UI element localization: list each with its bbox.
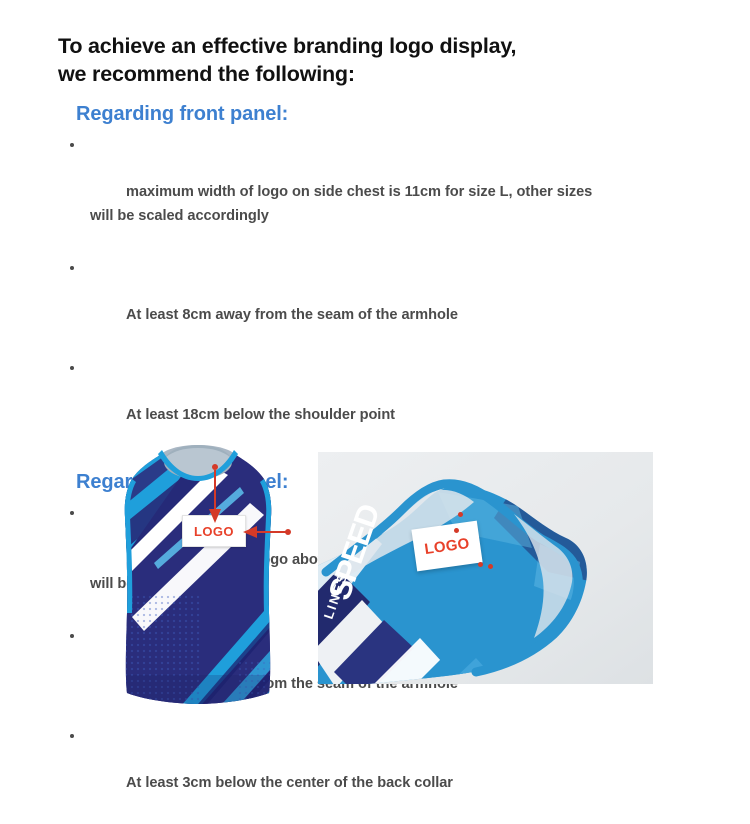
- list-item: At least 3cm below the center of the bac…: [66, 725, 718, 820]
- list-item-text: At least 8cm away from the seam of the a…: [126, 307, 458, 323]
- figures-row: LOGO: [0, 440, 750, 710]
- singlet-front-illustration: [118, 445, 278, 707]
- logo-card-label: LOGO: [194, 524, 234, 539]
- list-item: maximum width of logo on side chest is 1…: [66, 134, 718, 252]
- bullet-dot-icon: [70, 366, 74, 370]
- callout-arrow-top: [202, 463, 228, 525]
- callout-arrow-right: [240, 521, 292, 543]
- marker-dot: [488, 564, 493, 569]
- list-item-text: maximum width of logo on side chest is 1…: [86, 184, 592, 224]
- marker-dot: [458, 512, 463, 517]
- bullet-dot-icon: [70, 734, 74, 738]
- bullet-dot-icon: [70, 143, 74, 147]
- page-title-line1: To achieve an effective branding logo di…: [58, 34, 516, 58]
- marker-dot: [478, 562, 483, 567]
- bullet-dot-icon: [70, 266, 74, 270]
- front-panel-figure: LOGO: [118, 445, 278, 707]
- section-front-panel: Regarding front panel: maximum width of …: [58, 103, 718, 451]
- marker-dot: [454, 528, 459, 533]
- list-item-text: At least 18cm below the shoulder point: [126, 407, 395, 423]
- page-root: To achieve an effective branding logo di…: [0, 0, 750, 750]
- list-item-text: At least 3cm below the center of the bac…: [126, 775, 453, 791]
- page-title: To achieve an effective branding logo di…: [58, 32, 718, 89]
- front-panel-bullet-list: maximum width of logo on side chest is 1…: [58, 134, 718, 451]
- section-front-panel-title: Regarding front panel:: [76, 103, 718, 126]
- singlet-back-photo: SPEED LINES: [318, 452, 653, 684]
- page-title-line2: we recommend the following:: [58, 60, 718, 88]
- list-item: At least 18cm below the shoulder point: [66, 357, 718, 452]
- list-item: At least 8cm away from the seam of the a…: [66, 257, 718, 352]
- logo-card-label: LOGO: [423, 534, 470, 557]
- back-panel-figure: SPEED LINES LOGO: [318, 452, 653, 684]
